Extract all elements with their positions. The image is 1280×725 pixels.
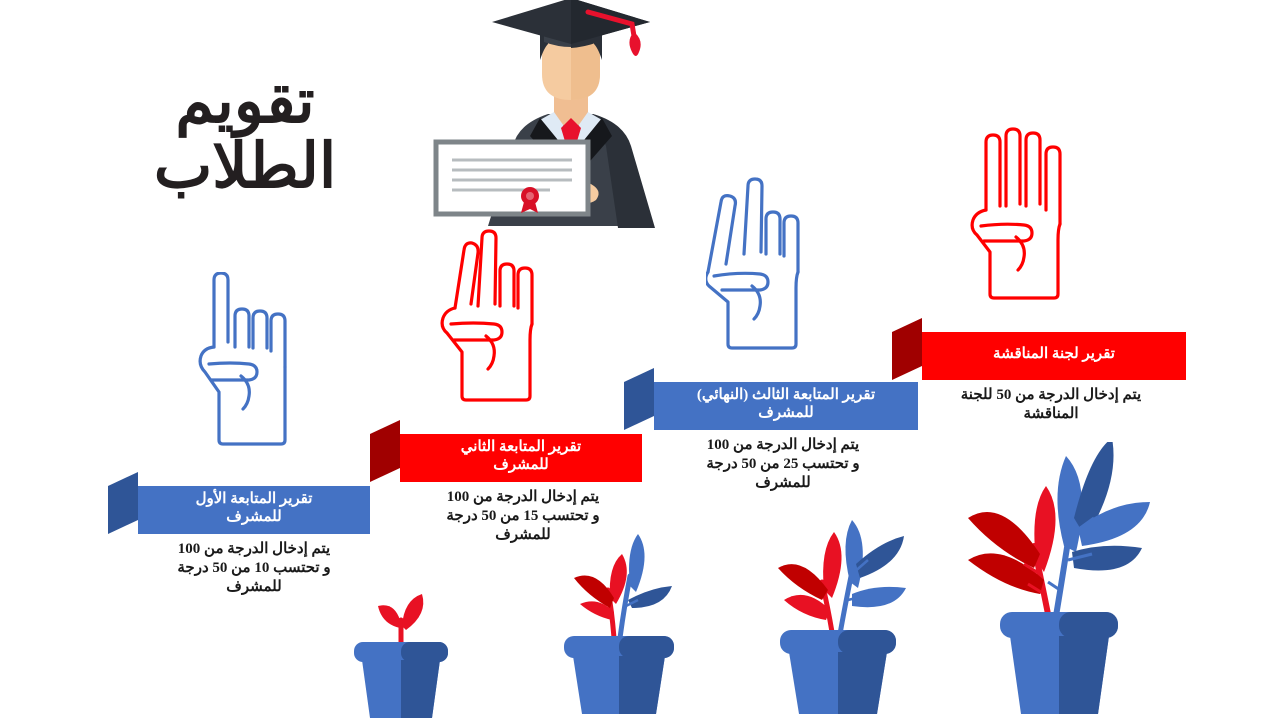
page-title: تقويم الطلاب	[130, 70, 360, 200]
plant-pot-medium	[766, 502, 916, 722]
infographic-canvas: تقويم الطلاب	[0, 0, 1280, 720]
step-2-banner-label: تقرير المتابعة الثاني للمشرف	[400, 434, 642, 482]
step-3-banner-label: تقرير المتابعة الثالث (النهائي) للمشرف	[654, 382, 918, 430]
step-1-group: تقرير المتابعة الأول للمشرف يتم إدخال ال…	[108, 472, 370, 534]
step-3-group: تقرير المتابعة الثالث (النهائي) للمشرف ي…	[624, 368, 918, 430]
step-4-banner-cap	[892, 318, 922, 380]
hand-three-fingers-icon	[706, 176, 826, 371]
step-3-caption: يتم إدخال الدرجة من 100 و تحتسب 25 من 50…	[660, 436, 906, 492]
step-4-group: تقرير لجنة المناقشة يتم إدخال الدرجة من …	[892, 318, 1186, 380]
plant-pot-small	[554, 512, 684, 722]
step-1-banner-cap	[108, 472, 138, 534]
plant-pot-sprout	[346, 570, 456, 725]
hand-four-fingers-icon	[966, 126, 1086, 321]
hand-two-fingers-icon	[438, 228, 558, 423]
step-4-banner-label: تقرير لجنة المناقشة	[922, 332, 1186, 380]
step-3-banner-cap	[624, 368, 654, 430]
step-2-banner-cap	[370, 420, 400, 482]
graduate-student-illustration	[418, 0, 718, 246]
plant-pot-large	[952, 442, 1152, 725]
step-1-banner-label: تقرير المتابعة الأول للمشرف	[138, 486, 370, 534]
step-2-banner[interactable]: تقرير المتابعة الثاني للمشرف	[370, 420, 642, 482]
step-1-caption: يتم إدخال الدرجة من 100 و تحتسب 10 من 50…	[138, 540, 370, 596]
hand-one-finger-icon	[195, 272, 315, 467]
step-2-group: تقرير المتابعة الثاني للمشرف يتم إدخال ا…	[370, 420, 642, 482]
step-1-banner[interactable]: تقرير المتابعة الأول للمشرف	[108, 472, 370, 534]
step-4-caption: يتم إدخال الدرجة من 50 للجنة المناقشة	[926, 386, 1176, 424]
step-3-banner[interactable]: تقرير المتابعة الثالث (النهائي) للمشرف	[624, 368, 918, 430]
step-4-banner[interactable]: تقرير لجنة المناقشة	[892, 318, 1186, 380]
